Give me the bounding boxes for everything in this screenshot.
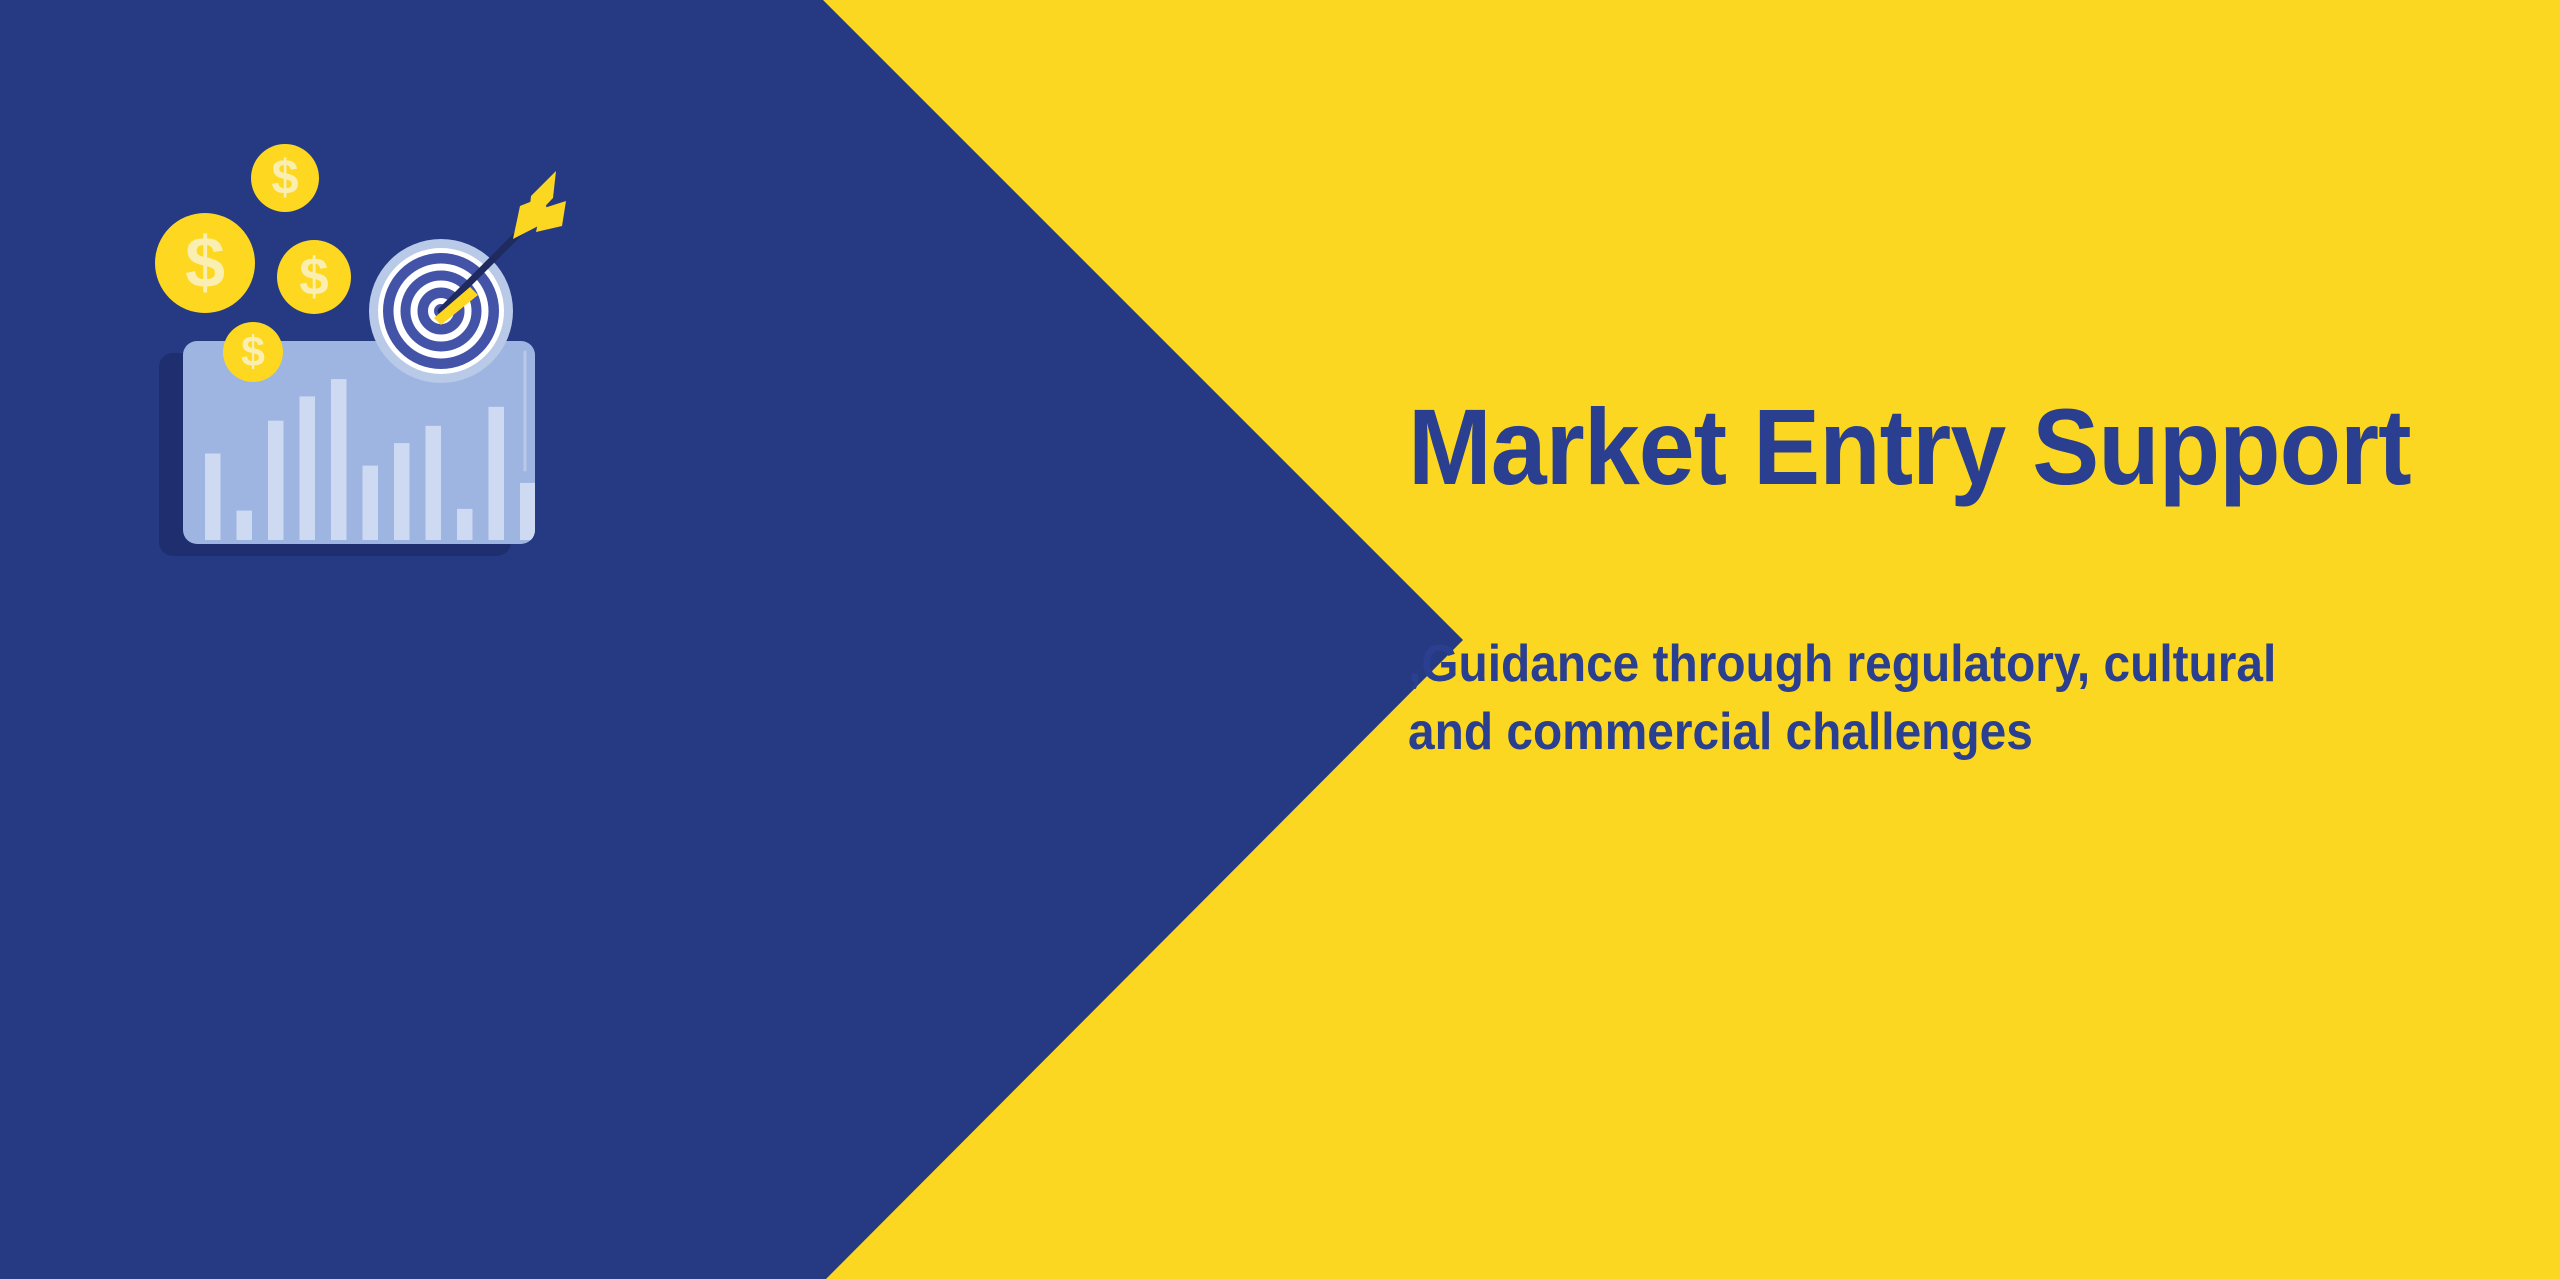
chart-bar [331,379,347,540]
chart-bar [552,450,568,540]
chart-bar [237,511,253,540]
chart-bar [205,454,221,541]
market-growth-illustration: $ $ $ $ [0,0,1000,1000]
chart-bar [489,407,505,540]
coin-mid-symbol: $ [299,248,328,307]
coin-top: $ [251,144,319,212]
chart-bar [363,466,379,540]
page-title: Market Entry Support [1408,390,2450,503]
page-subtitle: ,Guidance through regulatory, cultural a… [1408,631,2438,766]
banner-root: $ $ $ $ [0,0,2560,1279]
chart-bar [394,443,410,540]
text-block: Market Entry Support ,Guidance through r… [1408,390,2528,767]
chart-bar [426,426,442,540]
coin-mid: $ [277,240,351,314]
chart-bar [457,509,473,540]
coin-top-symbol: $ [271,151,298,205]
coin-large: $ [155,213,255,313]
coin-large-symbol: $ [185,223,225,303]
coin-small: $ [223,322,283,382]
subtitle-line-1: ,Guidance through regulatory, cultural [1408,631,2438,699]
chart-bar [300,396,316,540]
chart-bar [268,421,284,540]
chart-bar [520,483,536,540]
subtitle-line-2: and commercial challenges [1408,699,2438,767]
coin-small-symbol: $ [241,328,265,376]
